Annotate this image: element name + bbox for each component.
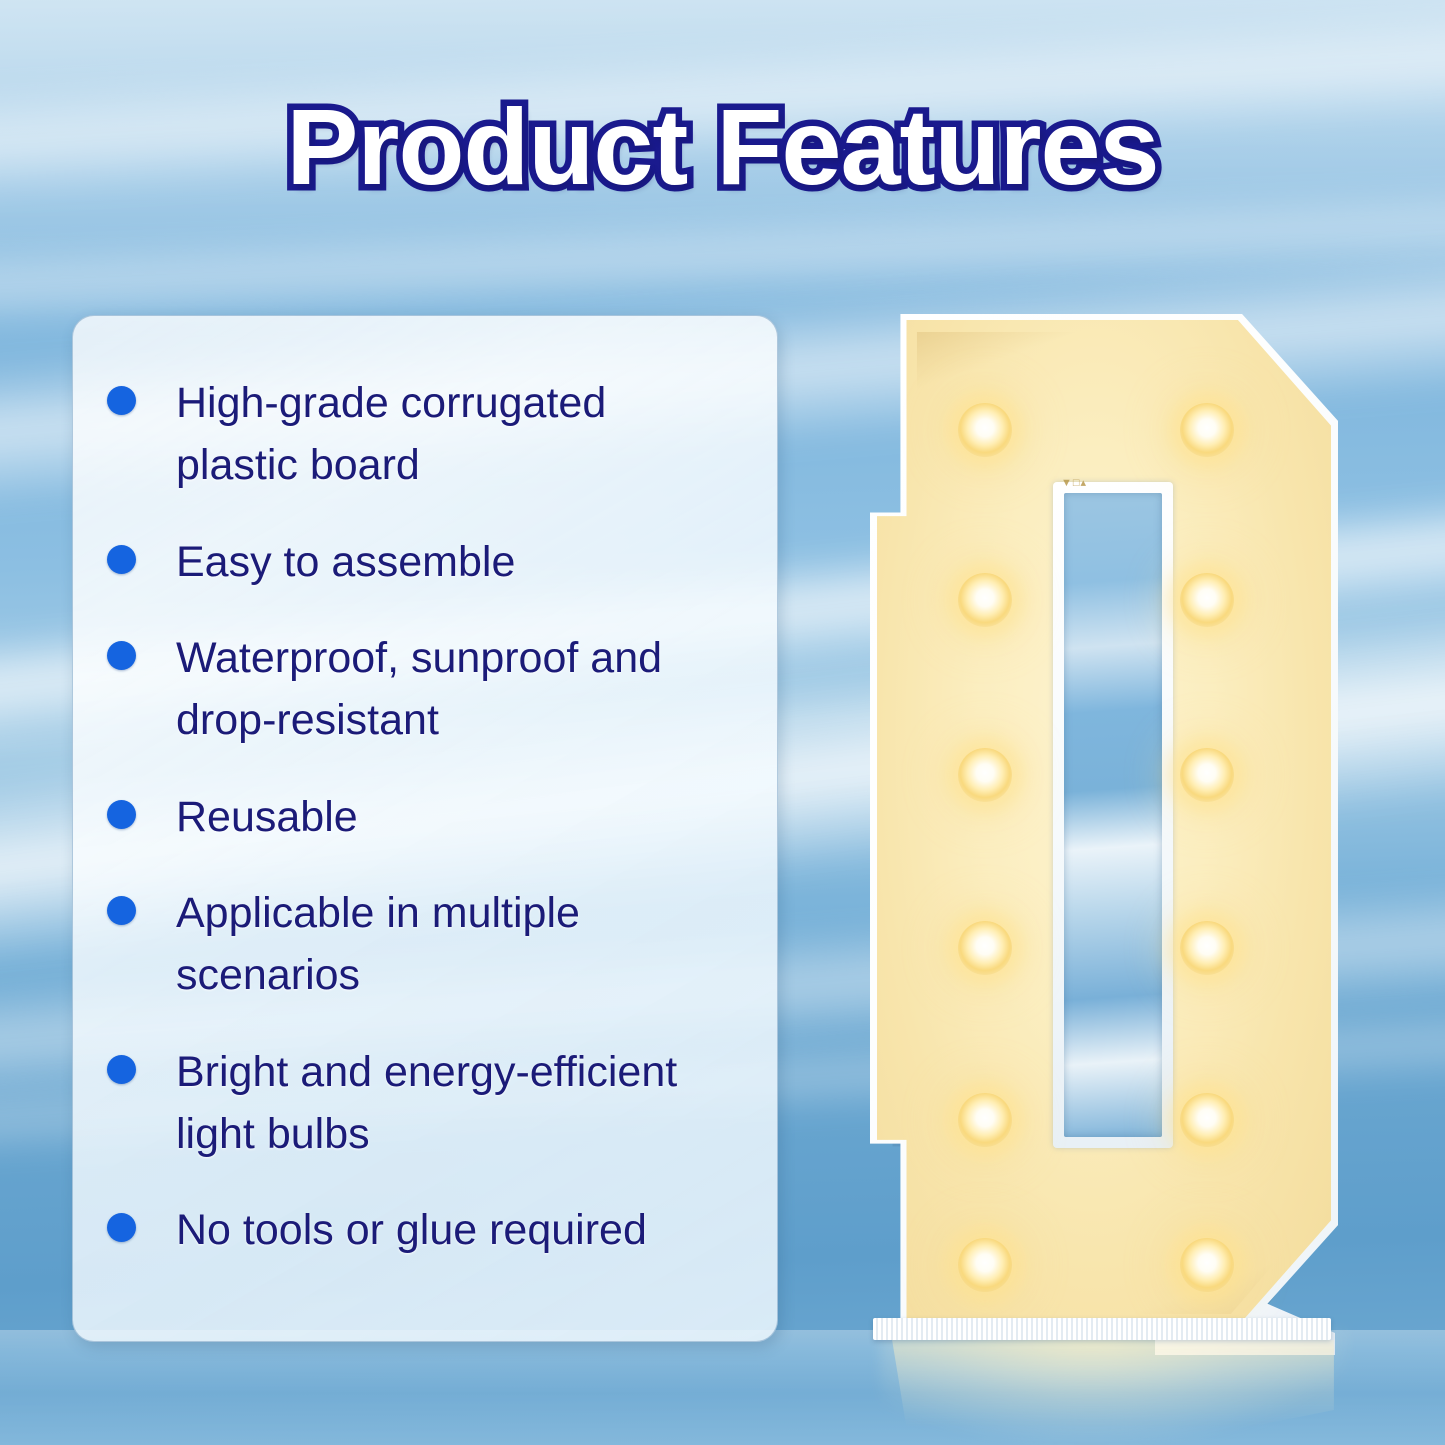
feature-label: Reusable: [176, 786, 358, 848]
led-bulb-icon: [1180, 403, 1234, 457]
bullet-dot-icon: [107, 641, 136, 670]
led-bulb-icon: [1180, 748, 1234, 802]
bullet-dot-icon: [107, 1055, 136, 1084]
letter-base-edge: [873, 1318, 1331, 1340]
features-panel: High-grade corrugated plastic board Easy…: [72, 315, 778, 1342]
infographic-canvas: Product Features High-grade corrugated p…: [0, 0, 1445, 1445]
led-bulb-icon: [958, 1238, 1012, 1292]
feature-label: High-grade corrugated plastic board: [176, 372, 736, 497]
feature-label: Applicable in multiple scenarios: [176, 882, 736, 1007]
bullet-dot-icon: [107, 1213, 136, 1242]
bullet-dot-icon: [107, 896, 136, 925]
led-bulb-icon: [958, 921, 1012, 975]
led-bulb-icon: [1180, 1238, 1234, 1292]
led-bulb-icon: [958, 573, 1012, 627]
led-bulb-icon: [1180, 921, 1234, 975]
feature-label: No tools or glue required: [176, 1199, 647, 1261]
bullet-dot-icon: [107, 545, 136, 574]
bullet-dot-icon: [107, 386, 136, 415]
product-marquee-letter: ▼□▴: [855, 300, 1355, 1370]
list-item: High-grade corrugated plastic board: [107, 372, 751, 497]
letter-counter-opening: [1064, 493, 1162, 1137]
list-item: No tools or glue required: [107, 1199, 751, 1261]
list-item: Reusable: [107, 786, 751, 848]
feature-label: Waterproof, sunproof and drop-resistant: [176, 627, 736, 752]
bullet-dot-icon: [107, 800, 136, 829]
led-bulb-icon: [958, 748, 1012, 802]
brand-mark-icon: ▼□▴: [1061, 476, 1087, 489]
list-item: Bright and energy-efficient light bulbs: [107, 1041, 751, 1166]
features-list: High-grade corrugated plastic board Easy…: [107, 372, 751, 1262]
list-item: Easy to assemble: [107, 531, 751, 593]
list-item: Applicable in multiple scenarios: [107, 882, 751, 1007]
led-bulb-icon: [958, 403, 1012, 457]
letter-counter-hole: [1053, 482, 1173, 1148]
feature-label: Bright and energy-efficient light bulbs: [176, 1041, 736, 1166]
feature-label: Easy to assemble: [176, 531, 515, 593]
led-bulb-icon: [1180, 1093, 1234, 1147]
led-bulb-icon: [958, 1093, 1012, 1147]
list-item: Waterproof, sunproof and drop-resistant: [107, 627, 751, 752]
led-bulb-icon: [1180, 573, 1234, 627]
